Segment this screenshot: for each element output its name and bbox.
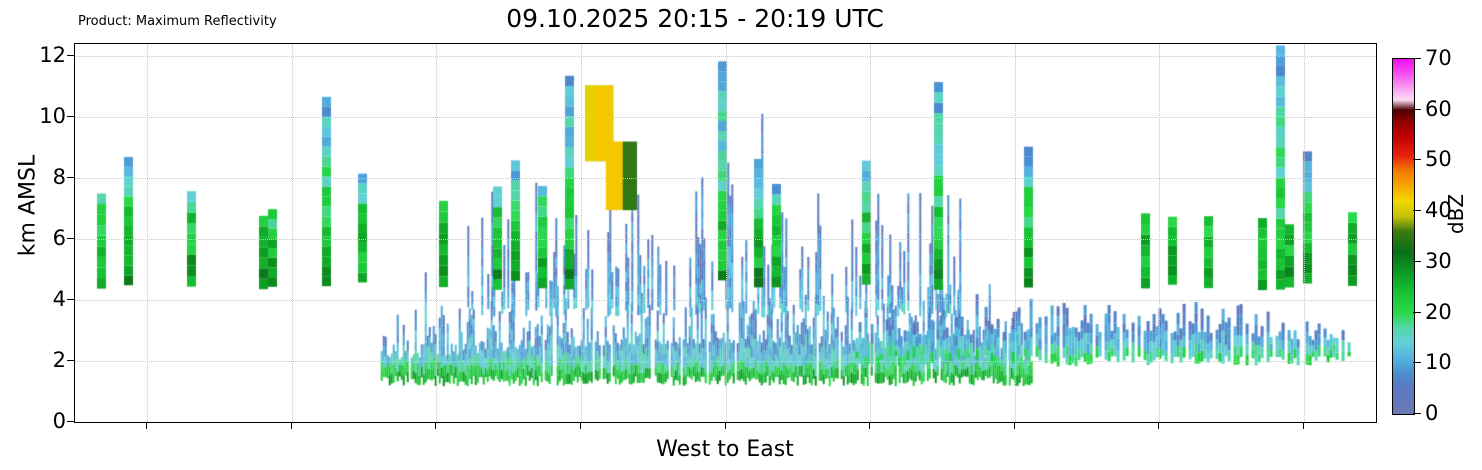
x-tick-mark [1014,422,1015,429]
colorbar-tick-mark [1413,210,1421,211]
colorbar-label: dBZ [1444,154,1468,274]
y-tick-label: 12 [18,43,66,67]
x-tick-mark [1303,422,1304,429]
colorbar-tick-label: 10 [1425,350,1452,374]
colorbar-tick-mark [1413,261,1421,262]
x-tick-mark [725,422,726,429]
y-tick-mark [67,299,74,300]
x-tick-mark [580,422,581,429]
y-axis-label: km AMSL [16,116,41,296]
colorbar-tick-label: 20 [1425,300,1452,324]
colorbar-tick-label: 70 [1425,46,1452,70]
y-tick-label: 6 [18,226,66,250]
x-axis-label: West to East [74,437,1376,462]
y-tick-mark [67,421,74,422]
grid-line-vertical [1304,44,1305,422]
y-tick-label: 10 [18,104,66,128]
y-tick-mark [67,360,74,361]
radar-cross-section-figure: 09.10.2025 20:15 - 20:19 UTC Product: Ma… [0,0,1482,470]
plot-area [74,43,1377,423]
y-tick-mark [67,116,74,117]
colorbar-tick-mark [1413,109,1421,110]
grid-line-vertical [1159,44,1160,422]
grid-line-vertical [436,44,437,422]
product-label: Product: Maximum Reflectivity [78,14,277,29]
y-tick-mark [67,177,74,178]
colorbar-tick-mark [1413,312,1421,313]
colorbar-tick-label: 60 [1425,97,1452,121]
y-tick-mark [67,55,74,56]
grid-line-vertical [870,44,871,422]
y-tick-label: 2 [18,348,66,372]
x-tick-mark [291,422,292,429]
colorbar [1392,58,1415,415]
grid-line-vertical [147,44,148,422]
colorbar-tick-mark [1413,159,1421,160]
grid-line-vertical [726,44,727,422]
colorbar-tick-mark [1413,58,1421,59]
colorbar-tick-label: 0 [1425,401,1438,425]
y-tick-label: 4 [18,287,66,311]
y-tick-label: 8 [18,165,66,189]
x-tick-mark [146,422,147,429]
grid-line-vertical [581,44,582,422]
x-tick-mark [869,422,870,429]
y-tick-mark [67,238,74,239]
colorbar-tick-mark [1413,413,1421,414]
x-tick-mark [1158,422,1159,429]
colorbar-tick-mark [1413,362,1421,363]
colorbar-gradient [1393,59,1414,414]
y-tick-label: 0 [18,409,66,433]
grid-line-vertical [292,44,293,422]
x-tick-mark [435,422,436,429]
grid-line-vertical [1015,44,1016,422]
